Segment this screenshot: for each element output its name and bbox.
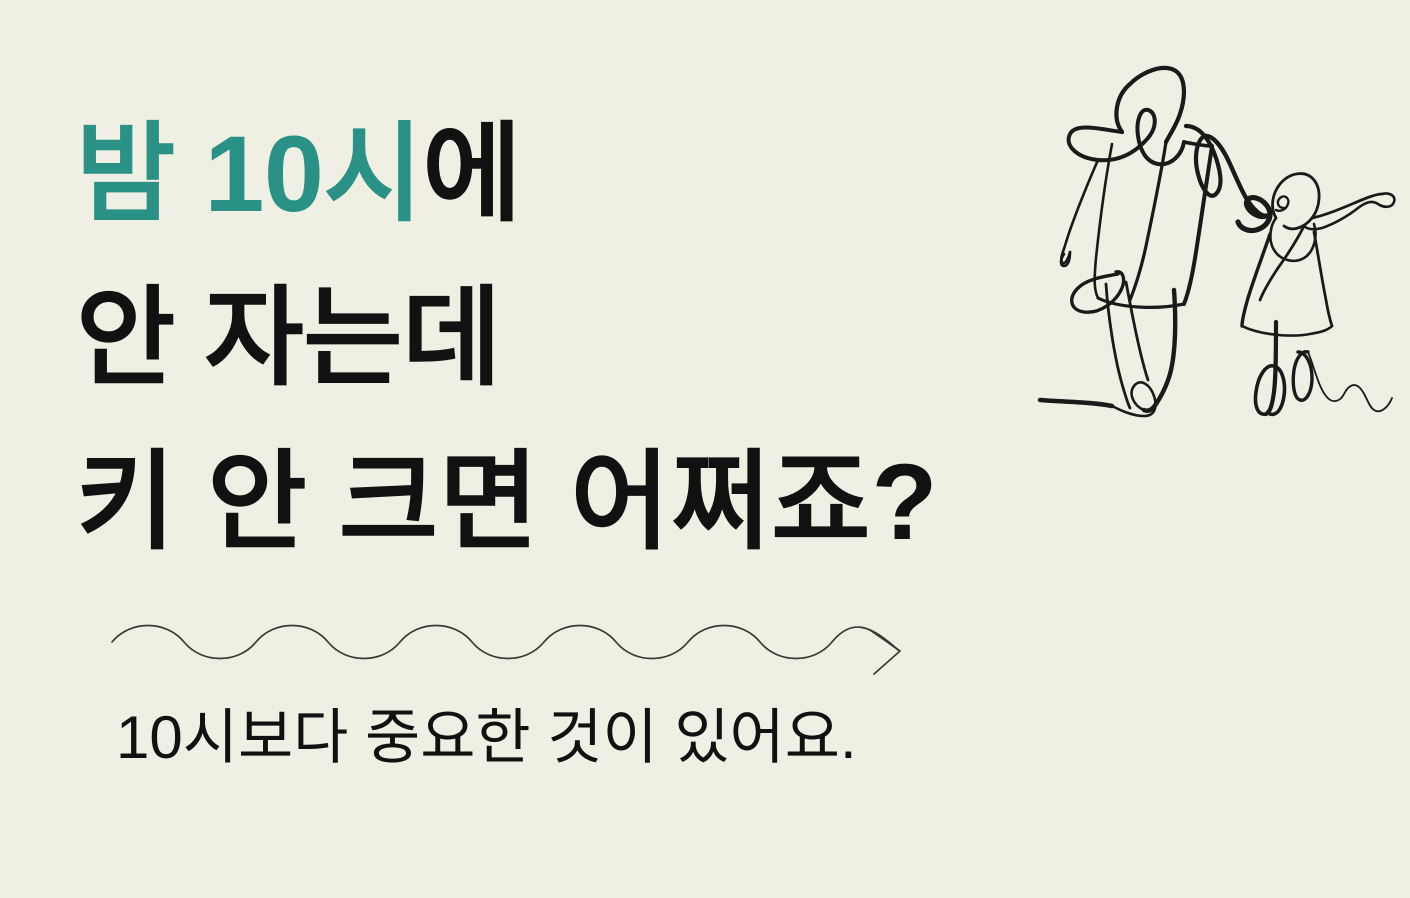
headline: 밤 10시에 안 자는데 키 안 크면 어쩌죠? — [76, 92, 1166, 584]
mother-and-child-line-art — [1026, 22, 1410, 422]
headline-line-2: 안 자는데 — [76, 256, 1166, 420]
subtitle: 10시보다 중요한 것이 있어요. — [116, 700, 857, 775]
wavy-arrow-right-icon — [108, 604, 938, 684]
headline-line-1: 밤 10시에 — [76, 92, 1166, 256]
poster-card: 밤 10시에 안 자는데 키 안 크면 어쩌죠? 10시보다 중요한 것이 있어… — [0, 0, 1410, 898]
headline-accent-text: 밤 10시 — [76, 113, 422, 234]
headline-line-1-suffix: 에 — [422, 113, 521, 234]
headline-line-3: 키 안 크면 어쩌죠? — [76, 420, 1166, 584]
